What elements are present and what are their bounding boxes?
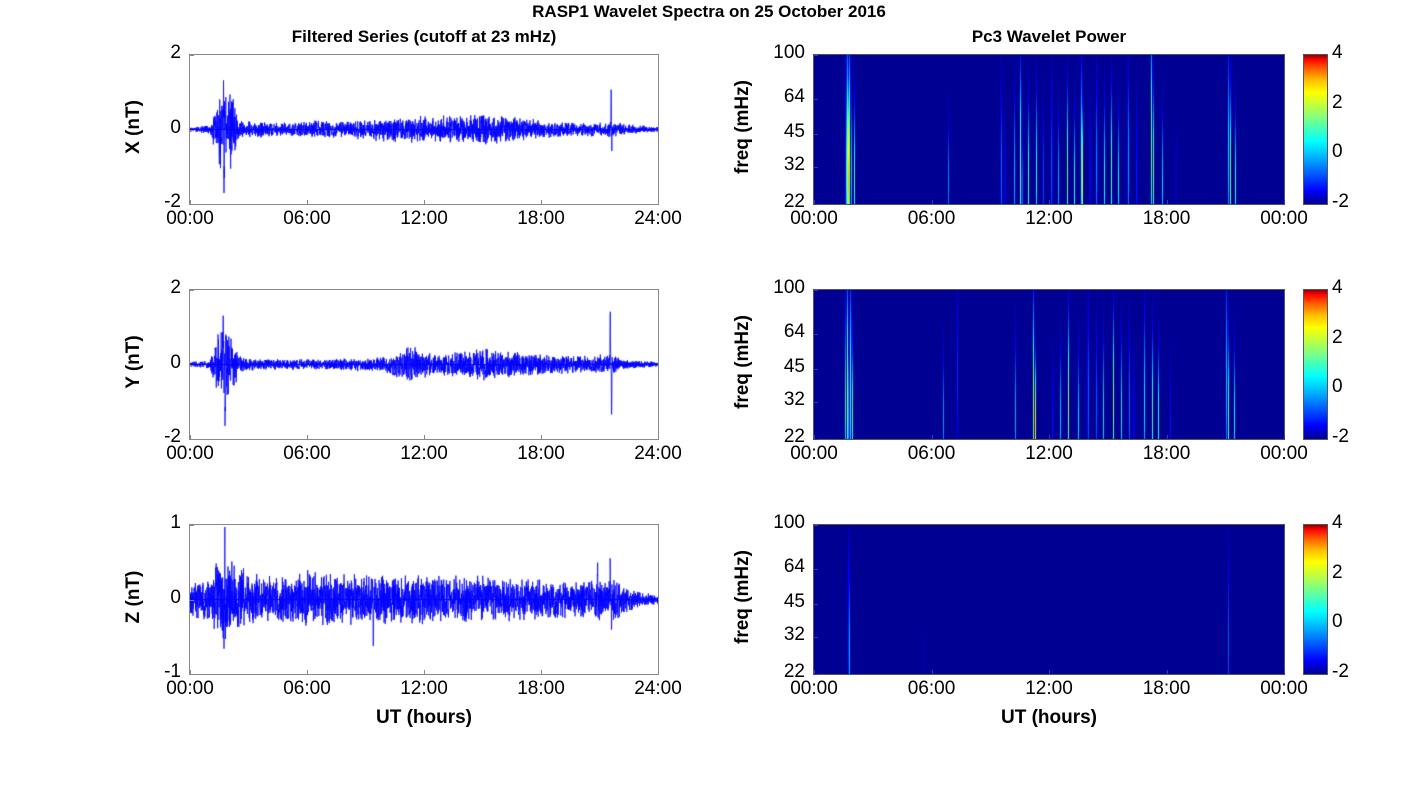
colorbar-tick-label: 4 [1332,512,1343,534]
ytick-label: 100 [747,512,805,534]
ytick-label: 64 [747,556,805,578]
xtick-mark [1284,670,1285,675]
xtick-label: 18:00 [1112,678,1222,700]
spectrogram-canvas-pc3-wavelet-power-z [814,525,1284,674]
colorbar-tick-label: -2 [1332,661,1349,683]
colorbar-tick-label: 2 [1332,562,1343,584]
xtick-label: 06:00 [877,678,987,700]
xtick-mark [814,670,815,675]
xtick-mark [932,670,933,675]
xtick-label: 12:00 [994,678,1104,700]
ytick-mark [813,604,818,605]
colorbar-tick-label: 0 [1332,611,1343,633]
xtick-mark [1167,670,1168,675]
figure-root: RASP1 Wavelet Spectra on 25 October 2016… [0,0,1418,788]
ytick-mark [813,637,818,638]
xaxis-label-left: UT (hours) [189,707,659,729]
ytick-label: 45 [747,591,805,613]
xaxis-label-right: UT (hours) [813,707,1285,729]
xtick-label: 00:00 [759,678,869,700]
xtick-label: 00:00 [1229,678,1339,700]
panel-pc3-wavelet-power-z: 1006445322200:0006:0012:0018:0000:00freq… [0,0,1418,788]
ytick-mark [813,569,818,570]
xtick-mark [1049,670,1050,675]
yaxis-label-pc3-wavelet-power-z: freq (mHz) [732,507,754,687]
ytick-label: 32 [747,624,805,646]
plot-area-pc3-wavelet-power-z [813,524,1285,675]
ytick-mark [813,525,818,526]
colorbar-pc3-wavelet-power-z [1303,524,1328,675]
